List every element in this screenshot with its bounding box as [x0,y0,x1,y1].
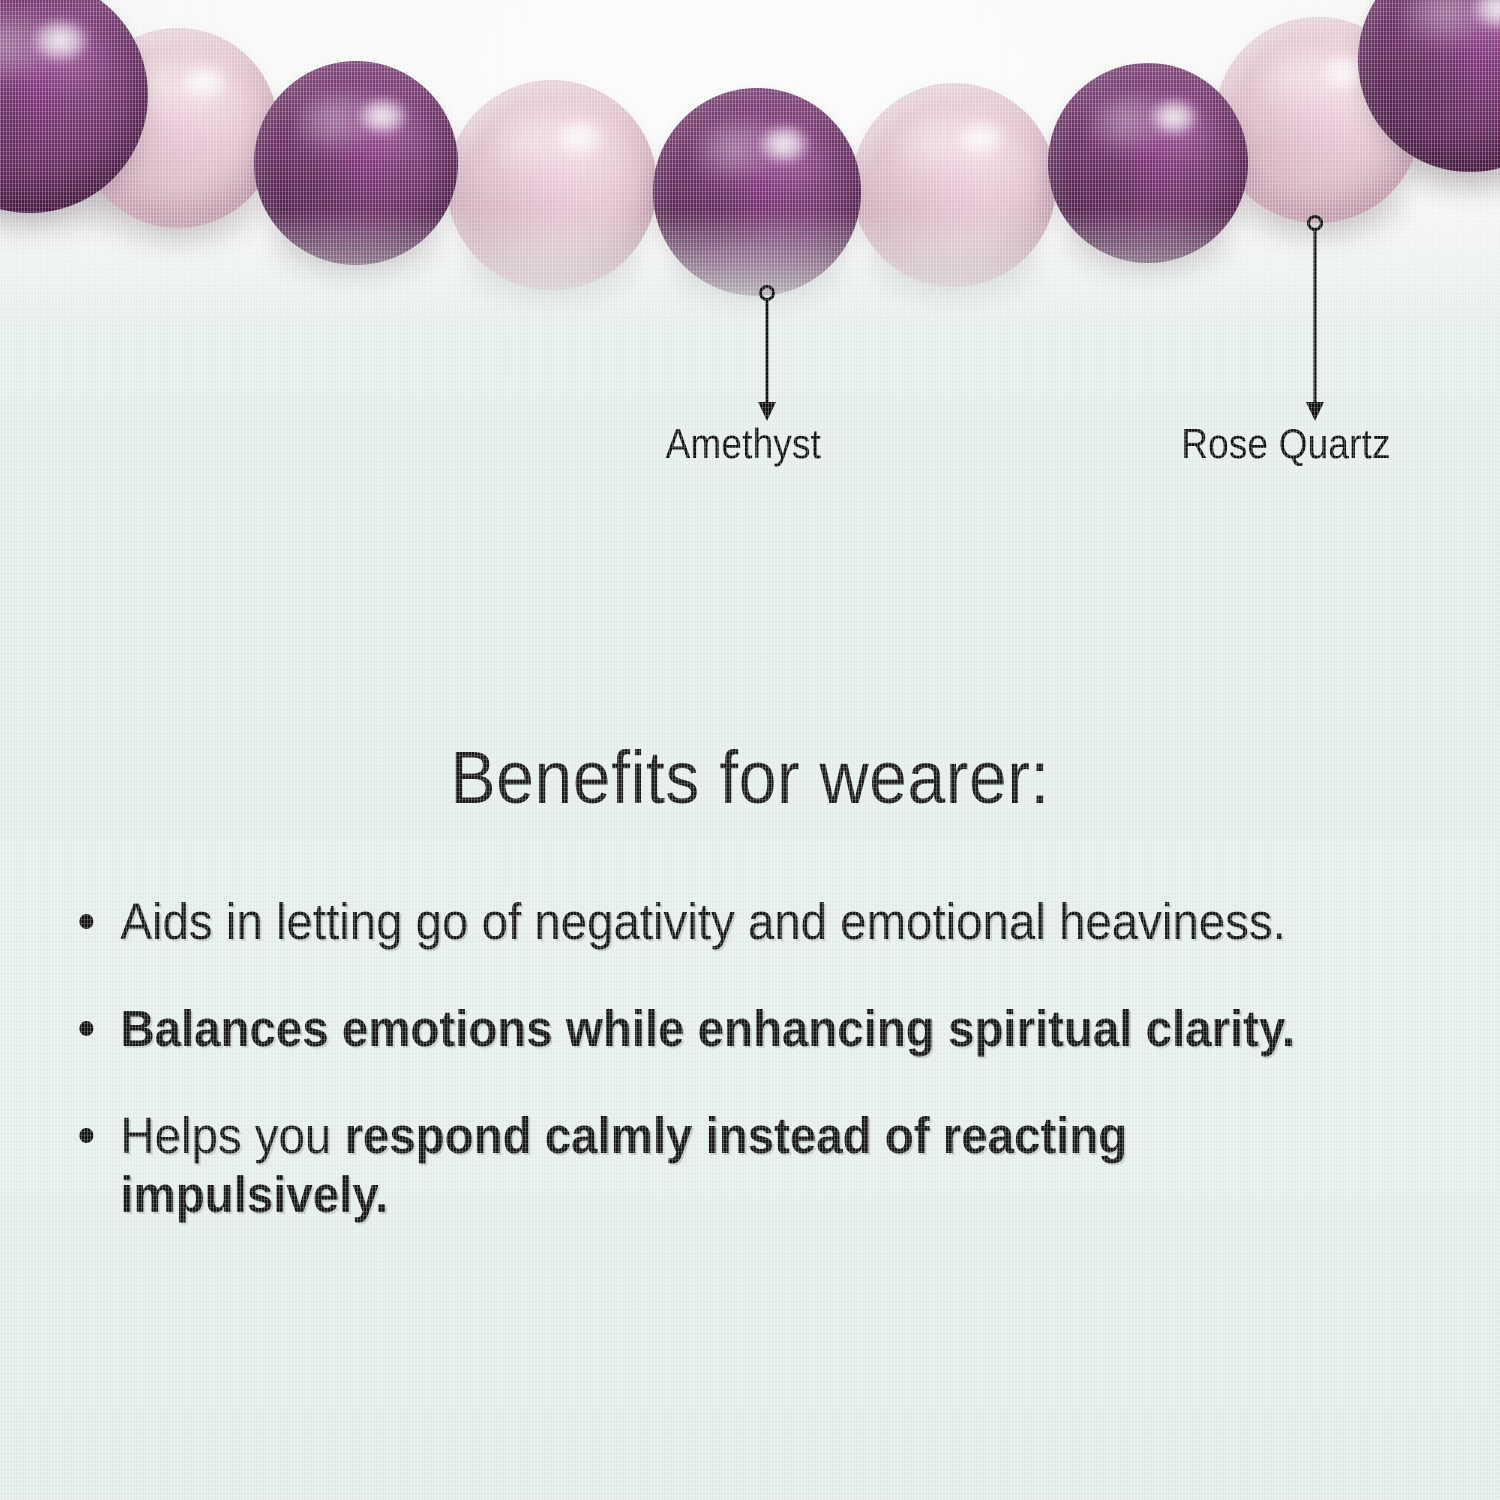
bead-amethyst [254,61,458,265]
bead-softlight [479,103,579,177]
bead-shadow [860,228,1048,315]
callout-arrowhead-icon [1306,402,1324,421]
bead-shadow [455,229,648,318]
callout-arrowhead-icon [758,402,776,421]
callout-anchor-dot [1309,217,1322,230]
bead-softlight [1078,85,1173,155]
bead-amethyst [1048,63,1248,263]
callout-leader-amethyst [747,279,787,426]
benefit-text: Aids in letting go of negativity and emo… [120,893,1285,950]
callout-leader-rose-quartz [1295,209,1335,426]
bullet-dot-icon [79,1128,93,1143]
benefits-section: Benefits for wearer: Aids in letting go … [0,330,1500,1273]
benefits-list: Aids in letting go of negativity and emo… [0,892,1500,1225]
callout-label-rose-quartz: Rose Quartz [1181,420,1390,468]
bullet-dot-icon [79,1021,93,1036]
callout-anchor-dot [761,287,774,300]
bullet-dot-icon [79,914,93,929]
bead-shadow [262,206,450,293]
benefit-text-plain: Helps you [120,1107,344,1164]
benefit-item: Helps you respond calmly instead of reac… [72,1106,1344,1224]
callout-label-amethyst: Amethyst [666,420,821,468]
infographic-page: AmethystRose Quartz Benefits for wearer:… [0,0,1500,1500]
bead-amethyst [653,88,861,296]
benefit-text-plain: Aids in letting go of negativity and emo… [120,893,1285,950]
benefit-text-emphasis: Balances emotions while enhancing spirit… [120,1000,1295,1057]
benefit-item: Aids in letting go of negativity and emo… [72,892,1344,951]
benefit-text: Helps you respond calmly instead of reac… [120,1107,1127,1223]
benefit-item: Balances emotions while enhancing spirit… [72,999,1344,1058]
page-title: Benefits for wearer: [60,735,1440,820]
bead-softlight [285,83,382,154]
benefit-text: Balances emotions while enhancing spirit… [120,1000,1295,1057]
bead-softlight [684,111,783,184]
bead-softlight [1246,40,1344,112]
bead-rose-quartz [852,83,1056,287]
bead-shadow [1056,205,1240,290]
bead-rose-quartz [447,80,657,290]
bead-softlight [883,105,980,176]
